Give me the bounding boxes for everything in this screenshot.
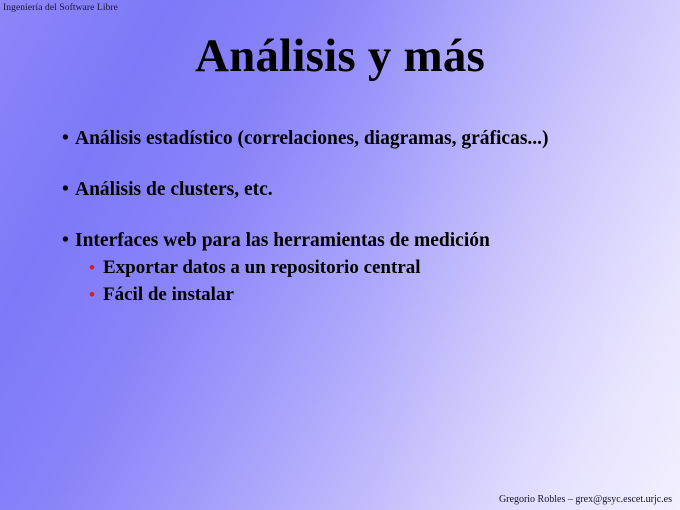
slide-header-course-title: Ingeniería del Software Libre <box>3 2 118 14</box>
bullet-label: Interfaces web para las herramientas de … <box>75 228 650 253</box>
slide-footer-author: Gregorio Robles – grex@gsyc.escet.urjc.e… <box>499 493 672 506</box>
bullet-item: • Interfaces web para las herramientas d… <box>62 228 650 308</box>
slide-title: Análisis y más <box>0 28 680 84</box>
bullet-dot-icon: • <box>62 228 69 253</box>
bullet-dot-red-icon: • <box>89 281 95 308</box>
sub-bullet-label: Fácil de instalar <box>103 281 650 308</box>
bullet-item: • Análisis estadístico (correlaciones, d… <box>62 126 650 151</box>
bullet-dot-icon: • <box>62 126 69 151</box>
sub-bullet-list: • Exportar datos a un repositorio centra… <box>75 254 650 308</box>
sub-bullet-label: Exportar datos a un repositorio central <box>103 254 650 281</box>
sub-bullet-item: • Fácil de instalar <box>89 281 650 308</box>
bullet-label: Análisis de clusters, etc. <box>75 177 650 202</box>
sub-bullet-item: • Exportar datos a un repositorio centra… <box>89 254 650 281</box>
presentation-slide: Ingeniería del Software Libre Análisis y… <box>0 0 680 510</box>
bullet-label: Análisis estadístico (correlaciones, dia… <box>75 126 650 151</box>
slide-body-content: • Análisis estadístico (correlaciones, d… <box>62 126 650 308</box>
bullet-dot-icon: • <box>62 177 69 202</box>
bullet-item: • Análisis de clusters, etc. <box>62 177 650 202</box>
bullet-dot-red-icon: • <box>89 254 95 281</box>
